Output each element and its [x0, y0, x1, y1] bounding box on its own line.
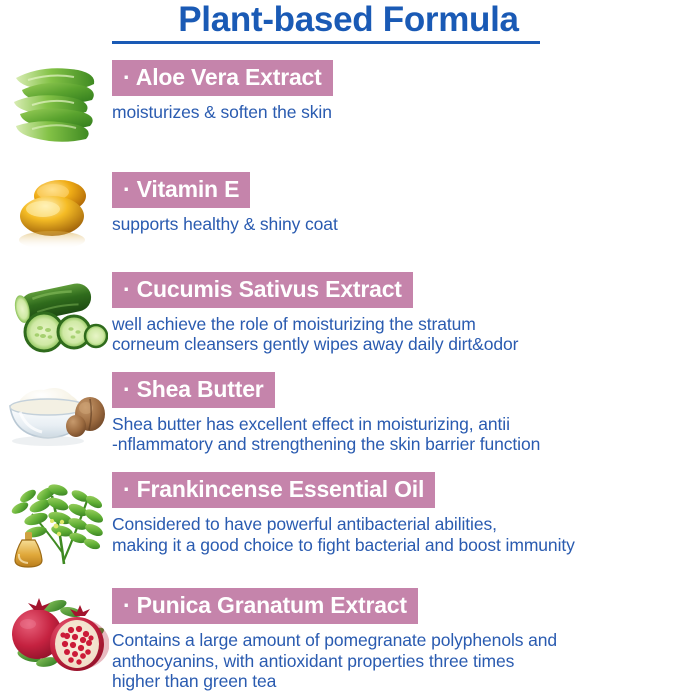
ingredient-list: · Aloe Vera Extract moisturizes & soften… — [0, 60, 679, 692]
aloe-vera-slices-image — [8, 62, 104, 150]
ingredient-description: well achieve the role of moisturizing th… — [112, 314, 673, 355]
ingredient-badge-shea-butter: · Shea Butter — [112, 372, 275, 408]
ingredient-content: · Shea Butter Shea butter has excellent … — [112, 372, 679, 455]
ingredient-content: · Aloe Vera Extract moisturizes & soften… — [112, 60, 679, 123]
ingredient-thumbnail — [0, 372, 112, 448]
ingredient-content: · Cucumis Sativus Extract well achieve t… — [112, 272, 679, 355]
ingredient-thumbnail — [0, 60, 112, 150]
shea-butter-bowl-image — [2, 374, 110, 448]
list-item: · Vitamin E supports healthy & shiny coa… — [0, 172, 679, 252]
page-title: Plant-based Formula — [0, 2, 679, 38]
cucumber-slices-image — [4, 274, 108, 356]
list-item: · Shea Butter Shea butter has excellent … — [0, 372, 679, 455]
ingredient-description: Shea butter has excellent effect in mois… — [112, 414, 673, 455]
pomegranate-fruit-image — [3, 590, 109, 678]
ingredient-badge-cucumis-sativus-extract: · Cucumis Sativus Extract — [112, 272, 413, 308]
ingredient-thumbnail — [0, 472, 112, 570]
ingredient-badge-aloe-vera-extract: · Aloe Vera Extract — [112, 60, 333, 96]
ingredient-description: supports healthy & shiny coat — [112, 214, 673, 235]
frankincense-plant-oil-image — [6, 474, 106, 570]
ingredient-description: Considered to have powerful antibacteria… — [112, 514, 673, 555]
list-item: · Cucumis Sativus Extract well achieve t… — [0, 272, 679, 356]
header: Plant-based Formula — [0, 0, 679, 44]
ingredient-thumbnail — [0, 272, 112, 356]
ingredient-badge-frankincense-essential-oil: · Frankincense Essential Oil — [112, 472, 435, 508]
ingredient-thumbnail — [0, 172, 112, 252]
ingredient-content: · Vitamin E supports healthy & shiny coa… — [112, 172, 679, 235]
ingredient-badge-vitamin-e: · Vitamin E — [112, 172, 250, 208]
ingredient-description: Contains a large amount of pomegranate p… — [112, 630, 673, 692]
title-underline-divider — [112, 41, 540, 44]
ingredient-content: · Frankincense Essential Oil Considered … — [112, 472, 679, 555]
ingredient-badge-punica-granatum-extract: · Punica Granatum Extract — [112, 588, 418, 624]
list-item: · Punica Granatum Extract Contains a lar… — [0, 588, 679, 692]
list-item: · Frankincense Essential Oil Considered … — [0, 472, 679, 570]
ingredient-content: · Punica Granatum Extract Contains a lar… — [112, 588, 679, 692]
ingredient-description: moisturizes & soften the skin — [112, 102, 673, 123]
vitamin-e-softgel-capsules-image — [8, 174, 104, 252]
ingredient-thumbnail — [0, 588, 112, 678]
list-item: · Aloe Vera Extract moisturizes & soften… — [0, 60, 679, 150]
